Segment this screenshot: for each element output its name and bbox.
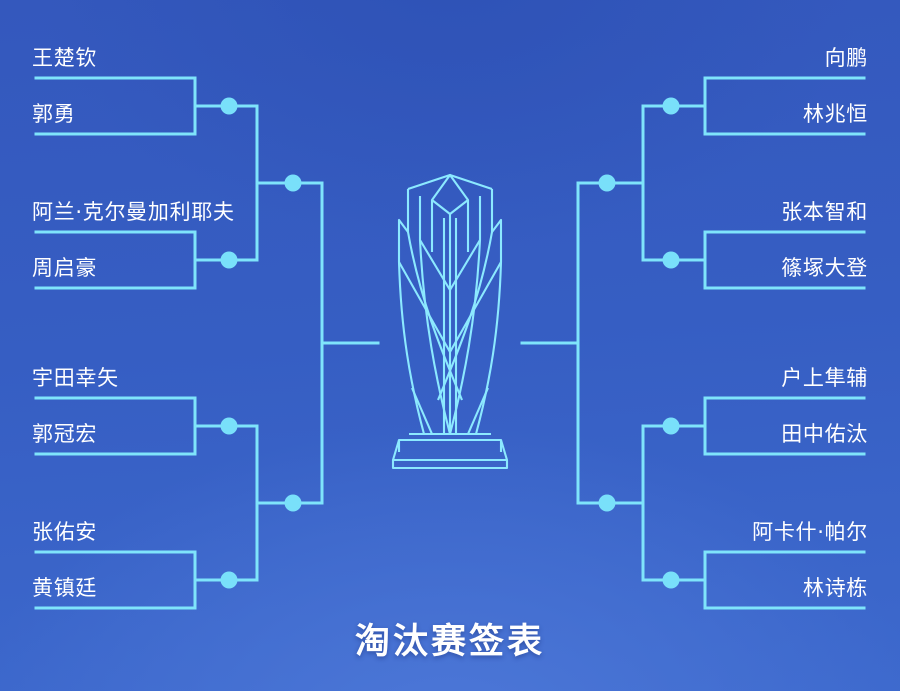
node-left-qf3	[221, 418, 238, 435]
node-left-qf1	[221, 98, 238, 115]
node-right-qf2	[663, 252, 680, 269]
node-left-qf4	[221, 572, 238, 589]
node-right-sf-bottom	[599, 495, 616, 512]
player-right-qf3-top: 户上隼辅	[781, 368, 868, 389]
node-left-sf-bottom	[285, 495, 302, 512]
player-right-qf2-bottom: 篠塚大登	[781, 258, 868, 279]
node-right-qf1	[663, 98, 680, 115]
page-title: 淘汰赛签表	[0, 613, 900, 664]
node-right-qf4	[663, 572, 680, 589]
node-left-qf2	[221, 252, 238, 269]
player-right-qf2-top: 张本智和	[781, 202, 868, 223]
player-left-qf2-top: 阿兰·克尔曼加利耶夫	[32, 202, 235, 223]
player-right-qf3-bottom: 田中佑汰	[781, 424, 868, 445]
player-left-qf1-top: 王楚钦	[32, 48, 97, 69]
tournament-bracket-poster: 王楚钦 郭勇 阿兰·克尔曼加利耶夫 周启豪 宇田幸矢 郭冠宏 张佑安 黄镇廷 向…	[0, 0, 900, 691]
player-left-qf3-top: 宇田幸矢	[32, 368, 119, 389]
node-left-sf-top	[285, 175, 302, 192]
player-right-qf4-bottom: 林诗栋	[803, 578, 868, 599]
player-left-qf4-top: 张佑安	[32, 522, 97, 543]
player-right-qf1-bottom: 林兆恒	[803, 104, 868, 125]
bracket-lines	[0, 0, 900, 691]
player-left-qf4-bottom: 黄镇廷	[32, 578, 97, 599]
node-right-qf3	[663, 418, 680, 435]
player-right-qf1-top: 向鹏	[825, 48, 868, 69]
node-right-sf-top	[599, 175, 616, 192]
trophy-icon	[393, 175, 507, 468]
player-left-qf2-bottom: 周启豪	[32, 258, 97, 279]
player-left-qf1-bottom: 郭勇	[32, 104, 75, 125]
player-right-qf4-top: 阿卡什·帕尔	[752, 522, 868, 543]
player-left-qf3-bottom: 郭冠宏	[32, 424, 97, 445]
